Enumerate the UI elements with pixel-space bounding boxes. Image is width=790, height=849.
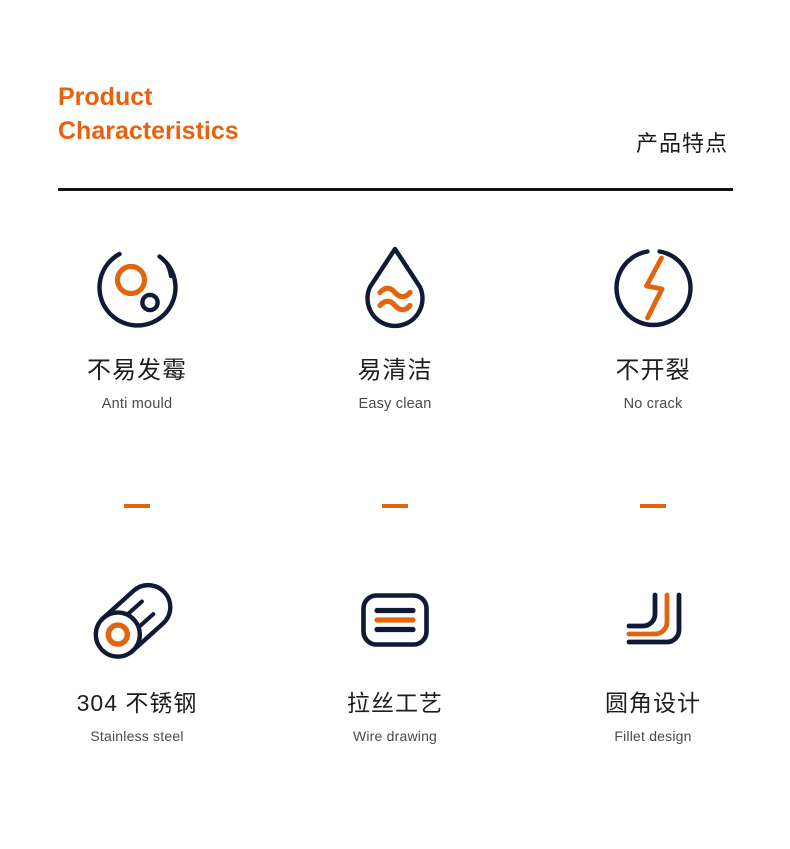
divider-cell [524, 504, 782, 508]
divider-dash [640, 504, 666, 508]
feature-card-fillet-design[interactable]: 圆角设计 Fillet design [524, 572, 782, 745]
features-row-2: 304 不锈钢 Stainless steel 拉丝工艺 Wire drawin… [8, 572, 782, 745]
header-divider-rule [58, 188, 733, 191]
feature-label-en: Stainless steel [90, 727, 183, 745]
feature-label-en: Fillet design [614, 727, 691, 745]
feature-card-anti-mould[interactable]: 不易发霉 Anti mould [8, 240, 266, 413]
features-row-1: 不易发霉 Anti mould 易清洁 Easy clean [8, 240, 782, 413]
feature-label-en: No crack [624, 395, 683, 413]
feature-card-wire-drawing[interactable]: 拉丝工艺 Wire drawing [266, 572, 524, 745]
page-title-cn: 产品特点 [636, 126, 728, 158]
fillet-corner-icon [605, 572, 701, 668]
page-header: Product Characteristics 产品特点 [58, 80, 734, 190]
page-title-en: Product Characteristics [58, 80, 239, 148]
divider-dash [382, 504, 408, 508]
product-characteristics-page: Product Characteristics 产品特点 不易 [0, 0, 790, 849]
divider-cell [266, 504, 524, 508]
crack-circle-icon [605, 240, 701, 336]
divider-cell [8, 504, 266, 508]
mould-circle-icon [89, 240, 185, 336]
feature-label-en: Wire drawing [353, 727, 437, 745]
feature-label-cn: 易清洁 [358, 356, 433, 386]
feature-card-easy-clean[interactable]: 易清洁 Easy clean [266, 240, 524, 413]
steel-tube-icon [89, 572, 185, 668]
row-divider-dashes [8, 504, 782, 508]
feature-label-cn: 304 不锈钢 [77, 688, 198, 718]
feature-label-en: Easy clean [359, 395, 432, 413]
brushed-lines-icon [347, 572, 443, 668]
divider-dash [124, 504, 150, 508]
feature-card-no-crack[interactable]: 不开裂 No crack [524, 240, 782, 413]
feature-label-cn: 不开裂 [616, 356, 691, 386]
feature-label-en: Anti mould [102, 395, 173, 413]
feature-label-cn: 拉丝工艺 [347, 688, 443, 718]
feature-card-stainless-steel[interactable]: 304 不锈钢 Stainless steel [8, 572, 266, 745]
feature-label-cn: 圆角设计 [605, 688, 701, 718]
feature-label-cn: 不易发霉 [87, 356, 187, 386]
water-drop-icon [347, 240, 443, 336]
